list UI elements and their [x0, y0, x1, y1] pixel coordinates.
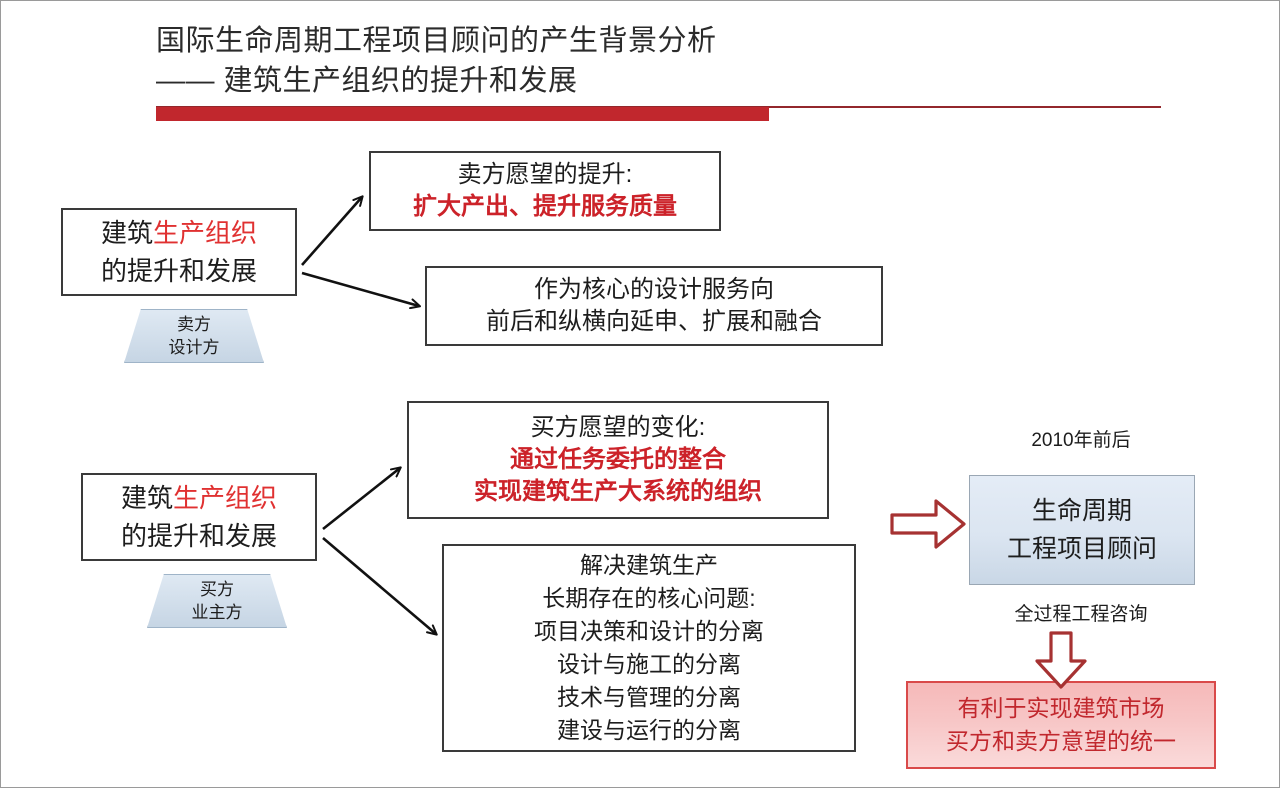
- seller-outcome-bottom-line-1: 作为核心的设计服务向: [534, 274, 774, 306]
- result-line-1: 生命周期: [1032, 492, 1132, 530]
- arrow-right-to-result-icon: [892, 501, 964, 547]
- buyer-outcome-top-box: 买方愿望的变化: 通过任务委托的整合 实现建筑生产大系统的组织: [407, 401, 829, 519]
- seller-role-tag: 卖方 设计方: [124, 309, 264, 363]
- buyer-role-tag: 买方 业主方: [147, 574, 287, 628]
- buyer-outcome-top-line-1: 买方愿望的变化:: [531, 412, 706, 444]
- buyer-role-line-2: 业主方: [192, 601, 243, 624]
- seller-role-line-1: 卖方: [177, 313, 211, 336]
- buyer-problem-line-4: 设计与施工的分离: [557, 648, 741, 681]
- conclusion-line-1: 有利于实现建筑市场: [958, 692, 1165, 725]
- period-label: 2010年前后: [966, 425, 1196, 452]
- seller-outcome-top-line-1: 卖方愿望的提升:: [458, 159, 633, 191]
- title-line-1: 国际生命周期工程项目顾问的产生背景分析: [156, 21, 1166, 61]
- buyer-role-line-1: 买方: [200, 578, 234, 601]
- conclusion-box: 有利于实现建筑市场 买方和卖方意望的统一: [906, 681, 1216, 769]
- seller-outcome-bottom-line-2: 前后和纵横向延申、扩展和融合: [486, 306, 822, 338]
- arrow-buyer-to-bottom: [323, 538, 436, 634]
- buyer-problem-line-3: 项目决策和设计的分离: [534, 615, 764, 648]
- result-caption: 全过程工程咨询: [966, 599, 1196, 626]
- slide-canvas: 国际生命周期工程项目顾问的产生背景分析 —— 建筑生产组织的提升和发展 建筑生产…: [0, 0, 1280, 788]
- result-box: 生命周期 工程项目顾问: [969, 475, 1195, 585]
- page-title: 国际生命周期工程项目顾问的产生背景分析 —— 建筑生产组织的提升和发展: [156, 21, 1166, 101]
- buyer-outcome-bottom-box: 解决建筑生产 长期存在的核心问题: 项目决策和设计的分离 设计与施工的分离 技术…: [442, 544, 856, 752]
- buyer-source-prefix: 建筑: [121, 483, 173, 513]
- seller-role-line-2: 设计方: [169, 336, 220, 359]
- title-rule-thick: [156, 107, 769, 121]
- conclusion-line-2: 买方和卖方意望的统一: [946, 725, 1176, 758]
- seller-source-box: 建筑生产组织 的提升和发展: [61, 208, 297, 296]
- buyer-source-box: 建筑生产组织 的提升和发展: [81, 473, 317, 561]
- result-line-2: 工程项目顾问: [1007, 530, 1157, 568]
- buyer-problem-line-6: 建设与运行的分离: [557, 714, 741, 747]
- seller-source-line-2: 的提升和发展: [101, 252, 257, 290]
- seller-source-highlight: 生产组织: [153, 218, 257, 248]
- buyer-problem-line-1: 解决建筑生产: [580, 549, 718, 582]
- seller-outcome-top-box: 卖方愿望的提升: 扩大产出、提升服务质量: [369, 151, 721, 231]
- buyer-problem-line-5: 技术与管理的分离: [557, 681, 741, 714]
- buyer-problem-line-2: 长期存在的核心问题:: [542, 582, 755, 615]
- buyer-source-line-1: 建筑生产组织: [121, 479, 277, 517]
- seller-outcome-top-line-2: 扩大产出、提升服务质量: [413, 191, 677, 223]
- seller-outcome-bottom-box: 作为核心的设计服务向 前后和纵横向延申、扩展和融合: [425, 266, 883, 346]
- arrow-seller-to-top: [302, 197, 362, 265]
- seller-source-prefix: 建筑: [101, 218, 153, 248]
- arrow-seller-to-bottom: [302, 273, 419, 306]
- arrow-buyer-to-top: [323, 468, 400, 529]
- arrow-down-to-conclusion-icon: [1037, 633, 1085, 687]
- buyer-outcome-top-line-2: 通过任务委托的整合: [510, 444, 726, 476]
- buyer-source-line-2: 的提升和发展: [121, 517, 277, 555]
- title-line-2: —— 建筑生产组织的提升和发展: [156, 61, 1166, 101]
- buyer-outcome-top-line-3: 实现建筑生产大系统的组织: [474, 476, 762, 508]
- buyer-source-highlight: 生产组织: [173, 483, 277, 513]
- seller-source-line-1: 建筑生产组织: [101, 214, 257, 252]
